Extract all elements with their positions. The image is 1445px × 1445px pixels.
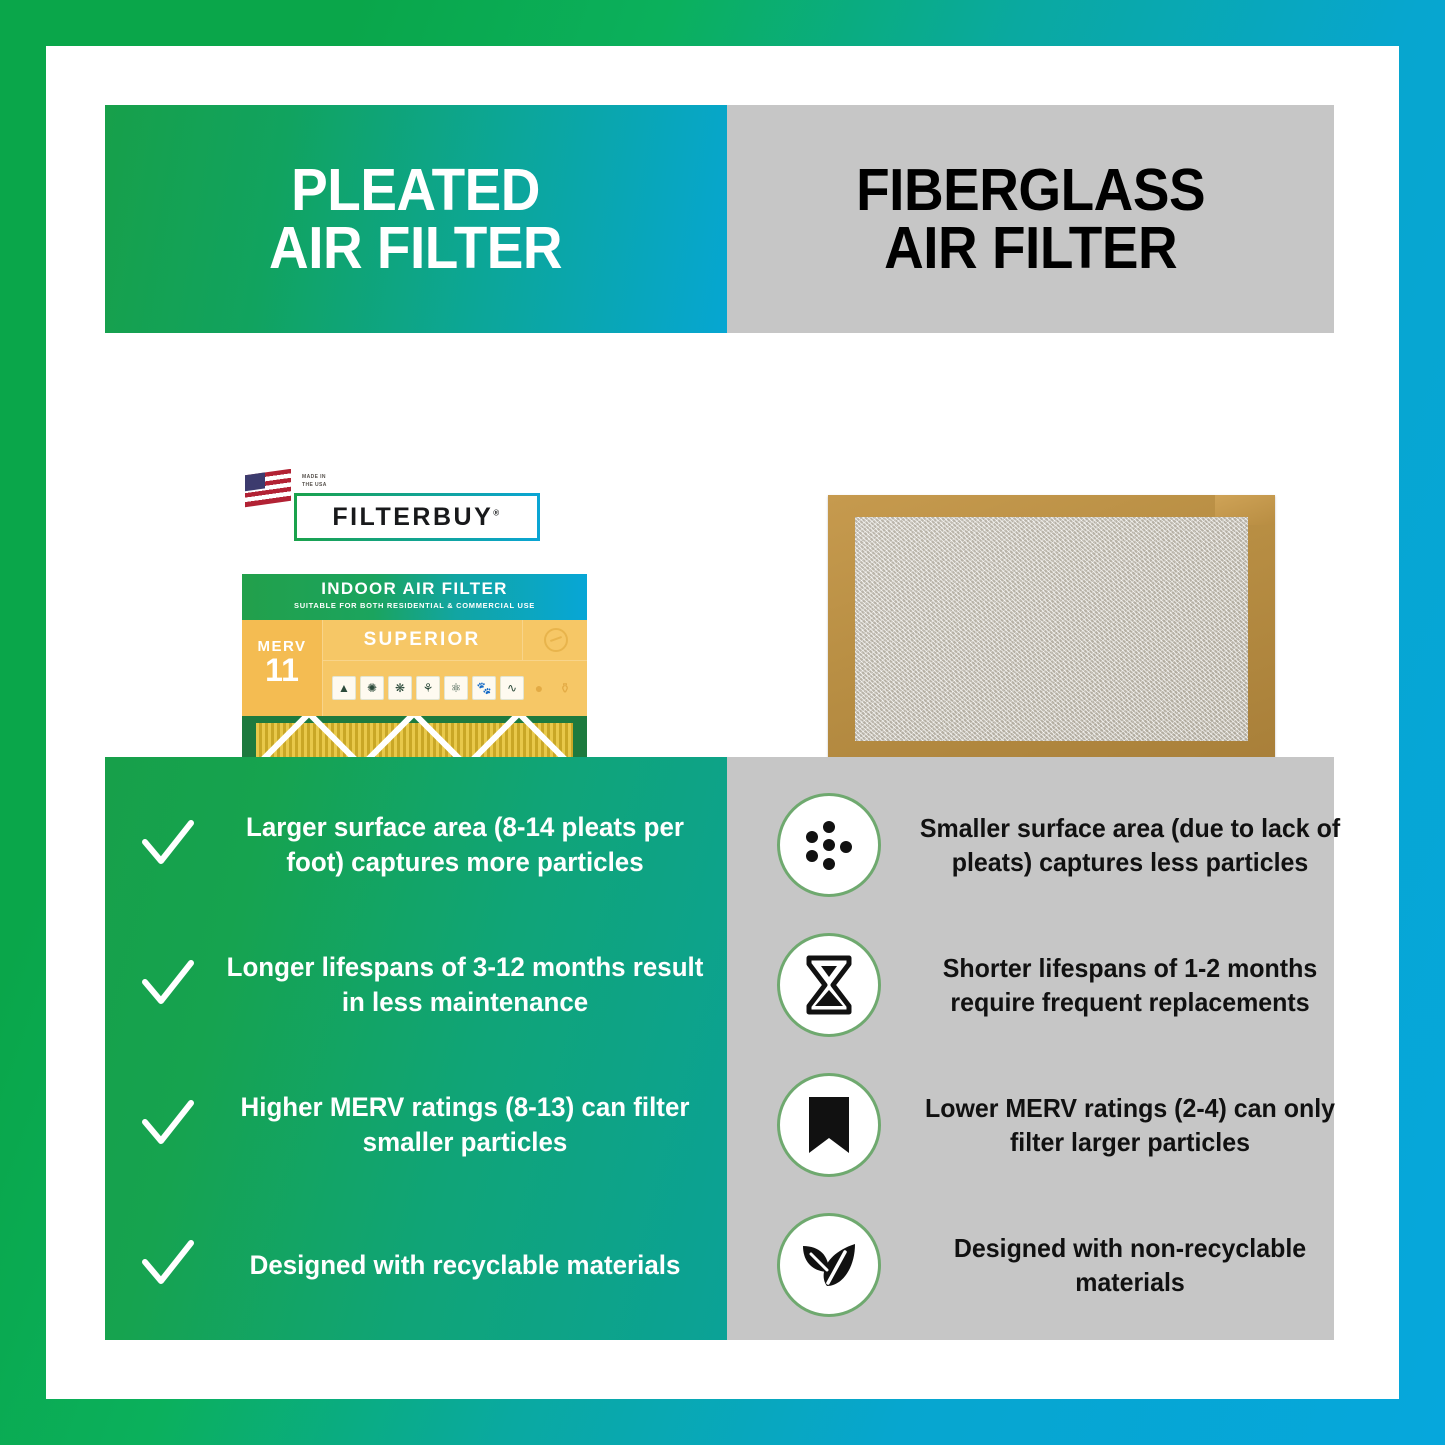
check-icon [139,1096,197,1154]
pollen-icon: ❋ [388,676,412,700]
infographic-poster: PLEATED AIR FILTER FIBERGLASS AIR FILTER… [0,0,1445,1445]
header-pleated-line1: PLEATED [269,161,562,219]
fiberglass-media [855,517,1248,741]
comparison-row: Larger surface area (8-14 pleats per foo… [105,775,1334,915]
comparison-row: Higher MERV ratings (8-13) can filter sm… [105,1055,1334,1195]
pet-dander-icon: 🐾 [472,676,496,700]
particles-icon [777,793,881,897]
row-left-text: Designed with recyclable materials [215,1248,714,1283]
check-icon [139,956,197,1014]
box-top-panel: MADE IN THE USA FILTERBUY® [242,469,587,574]
made-in-line1: MADE IN [302,474,327,482]
brand-name: FILTERBUY® [332,503,501,532]
comparison-content: PLEATED AIR FILTER FIBERGLASS AIR FILTER… [105,105,1334,1340]
fiberglass-cardboard-frame [828,495,1275,767]
header-fiberglass-line1: FIBERGLASS [856,161,1205,219]
comparison-row: Longer lifespans of 3-12 months result i… [105,915,1334,1055]
row-right-text: Designed with non-recyclable materials [904,1231,1355,1299]
no-carbon-icon: ● [528,677,550,699]
bookmark-icon [777,1073,881,1177]
made-in-usa-label: MADE IN THE USA [302,474,327,489]
hourglass-icon [777,933,881,1037]
usa-flag-icon [245,469,291,507]
feature-icon-strip: ▲ ✺ ❋ ⚘ ⚛ 🐾 ∿ ● ⚱ [322,660,587,716]
ul-listed-cell [522,620,587,661]
check-icon [139,816,197,874]
row-right-text: Shorter lifespans of 1-2 months require … [904,951,1355,1019]
header-pleated-title: PLEATED AIR FILTER [269,161,562,278]
row-right-text: Lower MERV ratings (2-4) can only filter… [904,1091,1355,1159]
product-image-band: MADE IN THE USA FILTERBUY® INDOOR AIR FI… [105,333,1334,757]
smoke-icon: ∿ [500,676,524,700]
mold-spore-icon: ⚘ [416,676,440,700]
header-fiberglass-line2: AIR FILTER [856,219,1205,277]
no-odor-icon: ⚱ [554,677,576,699]
header-fiberglass: FIBERGLASS AIR FILTER [727,105,1334,333]
header-pleated: PLEATED AIR FILTER [105,105,727,333]
check-icon [139,1236,197,1294]
dust-mite-icon: ✺ [360,676,384,700]
leaves-icon [777,1213,881,1317]
brand-trademark: ® [493,508,501,517]
row-right-text: Smaller surface area (due to lack of ple… [904,811,1355,879]
comparison-panel: Larger surface area (8-14 pleats per foo… [105,757,1334,1340]
merv-cell: MERV 11 [242,620,323,716]
row-left-text: Higher MERV ratings (8-13) can filter sm… [215,1090,714,1160]
band-subline: SUITABLE FOR BOTH RESIDENTIAL & COMMERCI… [242,599,587,610]
tier-label: SUPERIOR [322,620,522,661]
comparison-row: Designed with recyclable materials Desig… [105,1195,1334,1335]
indoor-air-filter-band: INDOOR AIR FILTER SUITABLE FOR BOTH RESI… [242,574,587,620]
band-headline: INDOOR AIR FILTER [242,574,587,599]
brand-logo-box: FILTERBUY® [294,493,540,541]
row-left-text: Larger surface area (8-14 pleats per foo… [215,810,714,880]
merv-band: MERV 11 SUPERIOR ▲ ✺ ❋ ⚘ ⚛ 🐾 ∿ [242,620,587,716]
brand-name-text: FILTERBUY [332,503,493,531]
made-in-line2: THE USA [302,482,327,490]
dust-icon: ▲ [332,676,356,700]
row-left-text: Longer lifespans of 3-12 months result i… [215,950,714,1020]
bacteria-icon: ⚛ [444,676,468,700]
ul-listed-icon [544,628,568,652]
merv-label: MERV [242,620,322,655]
fiberglass-filter-image [828,483,1275,773]
header-row: PLEATED AIR FILTER FIBERGLASS AIR FILTER [105,105,1334,333]
header-pleated-line2: AIR FILTER [269,219,562,277]
header-fiberglass-title: FIBERGLASS AIR FILTER [856,161,1205,278]
merv-value: 11 [242,655,322,685]
